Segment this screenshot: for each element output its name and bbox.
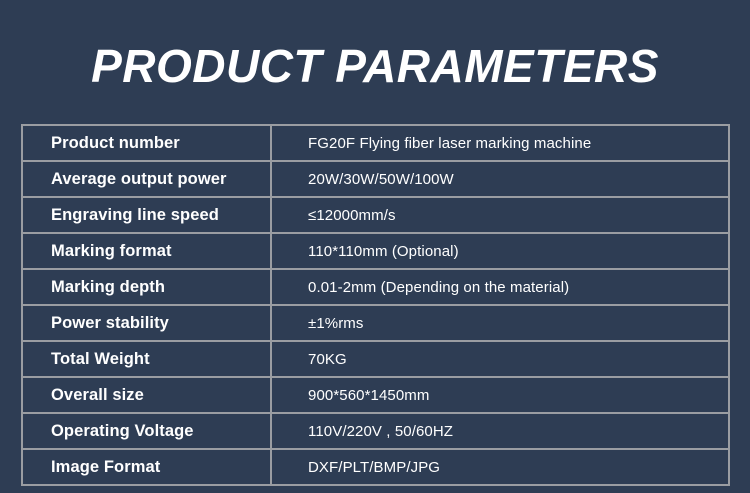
spec-value: 110V/220V , 50/60HZ [271, 413, 729, 449]
table-row: Image Format DXF/PLT/BMP/JPG [22, 449, 729, 485]
page-title: PRODUCT PARAMETERS [0, 38, 750, 94]
spec-label: Operating Voltage [22, 413, 271, 449]
spec-value: ±1%rms [271, 305, 729, 341]
spec-value: 900*560*1450mm [271, 377, 729, 413]
spec-label: Engraving line speed [22, 197, 271, 233]
spec-label: Marking format [22, 233, 271, 269]
spec-value: 20W/30W/50W/100W [271, 161, 729, 197]
table-row: Marking format 110*110mm (Optional) [22, 233, 729, 269]
spec-value: FG20F Flying fiber laser marking machine [271, 125, 729, 161]
spec-value: 70KG [271, 341, 729, 377]
table-row: Total Weight 70KG [22, 341, 729, 377]
spec-value: 110*110mm (Optional) [271, 233, 729, 269]
table-row: Average output power 20W/30W/50W/100W [22, 161, 729, 197]
table-row: Power stability ±1%rms [22, 305, 729, 341]
spec-label: Power stability [22, 305, 271, 341]
spec-label: Product number [22, 125, 271, 161]
spec-label: Overall size [22, 377, 271, 413]
specifications-table: Product number FG20F Flying fiber laser … [21, 124, 730, 486]
product-parameters-page: PRODUCT PARAMETERS Product number FG20F … [0, 0, 750, 493]
table-body: Product number FG20F Flying fiber laser … [22, 125, 729, 485]
table-row: Engraving line speed ≤12000mm/s [22, 197, 729, 233]
spec-value: DXF/PLT/BMP/JPG [271, 449, 729, 485]
spec-label: Average output power [22, 161, 271, 197]
spec-label: Marking depth [22, 269, 271, 305]
spec-label: Image Format [22, 449, 271, 485]
table-row: Operating Voltage 110V/220V , 50/60HZ [22, 413, 729, 449]
table-row: Marking depth 0.01-2mm (Depending on the… [22, 269, 729, 305]
spec-value: 0.01-2mm (Depending on the material) [271, 269, 729, 305]
spec-value: ≤12000mm/s [271, 197, 729, 233]
table-row: Overall size 900*560*1450mm [22, 377, 729, 413]
table-row: Product number FG20F Flying fiber laser … [22, 125, 729, 161]
spec-label: Total Weight [22, 341, 271, 377]
